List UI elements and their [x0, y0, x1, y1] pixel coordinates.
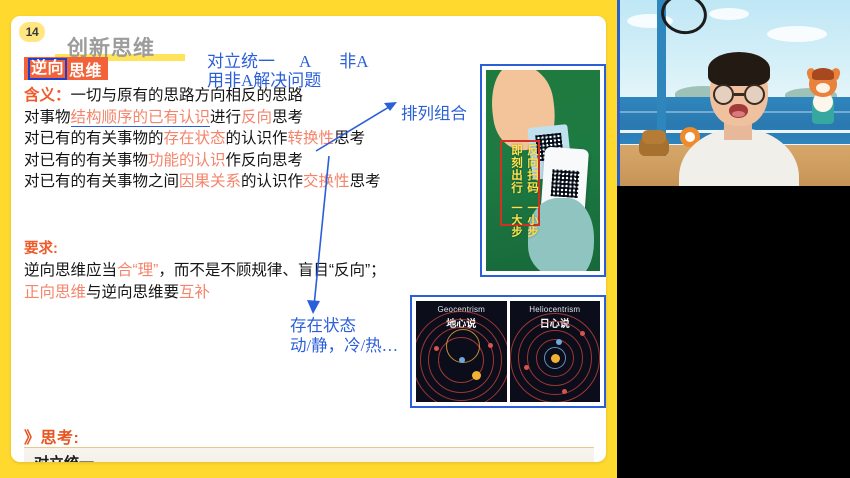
req2-seg2: 与逆向思维要 — [86, 284, 179, 301]
topic-tag-rest-part: 思维 — [69, 57, 102, 81]
body-line-2: 对已有的有关事物的存在状态的认识作转换性思考 — [24, 128, 484, 150]
line3-seg3: 作反向思考 — [226, 152, 304, 169]
line1-seg3: 进行 — [210, 109, 241, 126]
astro-panel-geocentrism: Geocentrism 地心说 — [416, 301, 507, 402]
cloud-shape — [709, 8, 749, 20]
line1-seg4: 反向 — [241, 109, 272, 126]
teacher-video-feed[interactable] — [617, 0, 850, 186]
image-reverse-scan-inner: 反向扫码 即刻出行 一小步 一大步 — [486, 70, 600, 271]
annotation-permutation: 排列组合 — [401, 104, 467, 123]
video-black-area — [617, 186, 850, 478]
mascot-snout — [816, 83, 830, 93]
line1-seg2: 结构顺序的已有认识 — [71, 109, 211, 127]
cloud-shape — [767, 26, 827, 42]
requirement-line-1: 逆向思维应当合“理”，而不是不顾规律、盲目“反向”； — [24, 260, 494, 282]
sandbag-shape — [639, 138, 669, 156]
annotation-state-line1: 存在状态 — [290, 316, 398, 336]
mascot-hair — [812, 68, 834, 80]
image-geocentrism-heliocentrism: Geocentrism 地心说 Heliocentrism 日心说 — [410, 295, 606, 408]
line4-seg2: 因果关系 — [179, 173, 241, 190]
think-answer: 对立统一 — [24, 448, 594, 462]
teacher-mouth — [729, 104, 748, 118]
unity-seg3: 非A — [339, 52, 368, 71]
think-heading: 》思考: — [24, 424, 79, 448]
req1-seg2: 合“理” — [117, 262, 158, 279]
line2-seg1: 对已有的有关事物的 — [24, 130, 164, 147]
req2-seg1: 正向思维 — [24, 284, 86, 301]
page-number-badge: 14 — [19, 22, 45, 42]
line2-seg2: 存在状态 — [164, 130, 226, 147]
glasses-bridge — [734, 93, 744, 96]
qr-vertical-text-1: 反向扫码 — [524, 144, 540, 194]
annotation-state: 存在状态 动/静，冷/热… — [290, 316, 398, 356]
planet-dot — [459, 357, 465, 363]
teacher-hair — [708, 52, 770, 86]
glasses-lens-right — [744, 84, 765, 105]
req1-seg1: 逆向思维应当 — [24, 262, 117, 279]
planet-dot — [524, 365, 529, 370]
glasses-lens-left — [713, 84, 734, 105]
line3-seg2: 功能的认识 — [148, 152, 226, 169]
line2-seg5: 思考 — [334, 130, 365, 147]
qr-vertical-text-2: 即刻出行 — [508, 144, 524, 194]
annotation-unity-line1: 对立统一A非A — [207, 52, 369, 71]
body-line-3: 对已有的有关事物功能的认识作反向思考 — [24, 150, 484, 172]
planet-dot — [434, 346, 439, 351]
req2-seg3: 互补 — [179, 284, 210, 301]
line4-seg1: 对已有的有关事物之间 — [24, 173, 179, 190]
body-line-4: 对已有的有关事物之间因果关系的认识作交换性思考 — [24, 171, 484, 193]
line2-seg4: 转换性 — [288, 130, 335, 147]
line3-seg1: 对已有的有关事物 — [24, 152, 148, 169]
planet-dot — [580, 331, 585, 336]
topic-tag-boxed-part: 逆向 — [28, 58, 67, 80]
line4-seg5: 思考 — [350, 173, 381, 190]
requirement-label: 要求: — [24, 238, 494, 260]
planet-dot — [556, 339, 562, 345]
slide-area: 14 创新思维 逆向思维 含义：一切与原有的思路方向相反的思路 对事物结构顺序的… — [0, 0, 617, 478]
line2-seg3: 的认识作 — [226, 130, 288, 147]
line4-seg4: 交换性 — [303, 173, 350, 190]
annotation-unity: 对立统一A非A 用非A解决问题 — [207, 52, 369, 90]
unity-seg2: A — [299, 52, 311, 71]
definition-block: 含义：一切与原有的思路方向相反的思路 对事物结构顺序的已有认识进行反向思考 对已… — [24, 85, 484, 193]
slide-card: 14 创新思维 逆向思维 含义：一切与原有的思路方向相反的思路 对事物结构顺序的… — [11, 16, 606, 462]
image-reverse-scan: 反向扫码 即刻出行 一小步 一大步 — [480, 64, 606, 277]
annotation-state-line2: 动/静，冷/热… — [290, 336, 398, 356]
line1-seg1: 对事物 — [24, 109, 71, 126]
qr-vertical-text-4: 一大步 — [508, 202, 524, 238]
planet-dot — [488, 343, 493, 348]
annotation-unity-line2: 用非A解决问题 — [207, 71, 369, 90]
video-left-edge-strip — [617, 0, 620, 186]
unity-seg1: 对立统一 — [207, 52, 275, 71]
qr-vertical-text-3: 一小步 — [524, 202, 540, 238]
req1-seg3: ，而不是不顾规律、盲目“反向”； — [158, 262, 385, 279]
line1-seg5: 思考 — [272, 109, 303, 126]
planet-dot — [562, 389, 567, 394]
planet-dot — [472, 371, 481, 380]
line4-seg3: 的认识作 — [241, 173, 303, 190]
astro-panel-heliocentrism: Heliocentrism 日心说 — [510, 301, 601, 402]
slide-screen: 14 创新思维 逆向思维 含义：一切与原有的思路方向相反的思路 对事物结构顺序的… — [0, 0, 850, 478]
sun-dot — [551, 354, 560, 363]
definition-label: 含义： — [24, 87, 71, 104]
video-panel[interactable] — [617, 0, 850, 478]
topic-tag: 逆向思维 — [24, 57, 108, 80]
